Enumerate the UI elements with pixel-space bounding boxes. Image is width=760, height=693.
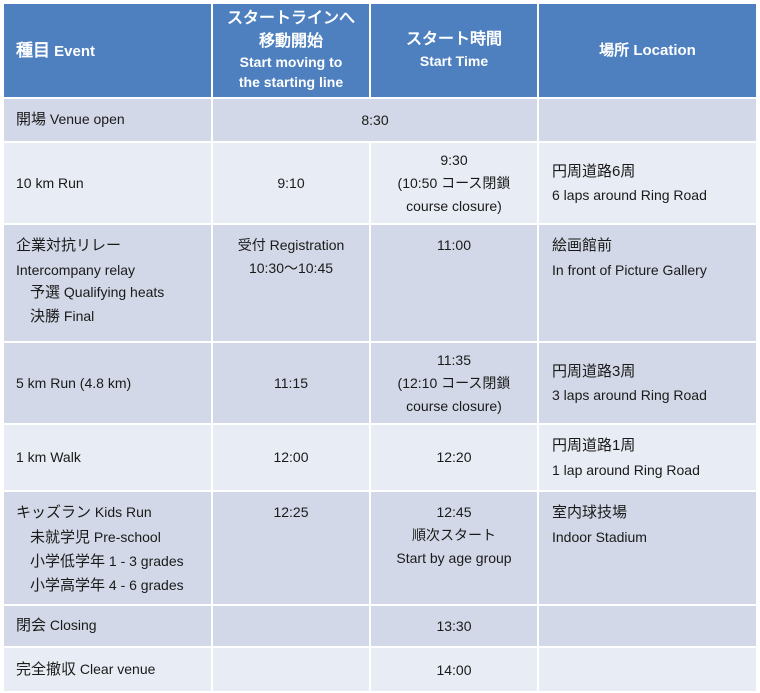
table-row: キッズラン Kids Run未就学児 Pre-school小学低学年 1 - 3… xyxy=(4,491,756,605)
start-time-line: 12:45 xyxy=(379,501,529,524)
table-row: 1 km Walk12:0012:20円周道路1周1 lap around Ri… xyxy=(4,424,756,491)
event-line: 企業対抗リレー xyxy=(16,234,203,258)
column-header-start-time-jp: スタート時間 xyxy=(377,29,531,52)
event-line-jp: 企業対抗リレー xyxy=(16,237,121,254)
column-header-location: 場所 Location xyxy=(538,4,756,98)
cell-location-1km-walk: 円周道路1周1 lap around Ring Road xyxy=(538,424,756,491)
cell-start-time-10km-run: 9:30(10:50 コース閉鎖course closure) xyxy=(370,142,538,224)
location-jp: 円周道路1周 xyxy=(552,434,748,458)
column-header-start-moving-jp1: スタートラインへ xyxy=(219,8,363,31)
event-line-en: Qualifying heats xyxy=(64,284,164,300)
cell-start-moving-kids-run: 12:25 xyxy=(212,491,370,605)
cell-location-intercompany-relay: 絵画館前In front of Picture Gallery xyxy=(538,224,756,342)
table-row: 閉会 Closing13:30 xyxy=(4,605,756,647)
event-line-en: 1 km Walk xyxy=(16,449,81,465)
column-header-location-jp: 場所 xyxy=(599,42,629,59)
column-header-start-moving-en1: Start moving to xyxy=(219,53,363,73)
cell-start-moving-5km-run: 11:15 xyxy=(212,342,370,424)
event-line-en: Kids Run xyxy=(95,504,152,520)
event-line-en: 10 km Run xyxy=(16,175,84,191)
start-time-line: 順次スタート xyxy=(379,524,529,547)
start-time-line: 9:30 xyxy=(379,149,529,172)
cell-start-time-intercompany-relay: 11:00 xyxy=(370,224,538,342)
location-en: 1 lap around Ring Road xyxy=(552,459,748,482)
event-line: 決勝 Final xyxy=(16,305,203,329)
event-schedule-table: 種目 Event スタートラインへ 移動開始 Start moving to t… xyxy=(4,4,756,693)
cell-event-kids-run: キッズラン Kids Run未就学児 Pre-school小学低学年 1 - 3… xyxy=(4,491,212,605)
location-jp: 絵画館前 xyxy=(552,234,748,258)
event-line-en: Pre-school xyxy=(94,529,161,545)
event-line-jp: キッズラン xyxy=(16,504,91,521)
cell-start-time-closing: 13:30 xyxy=(370,605,538,647)
cell-location-venue-open xyxy=(538,98,756,142)
header-row: 種目 Event スタートラインへ 移動開始 Start moving to t… xyxy=(4,4,756,98)
start-moving-line: 受付 Registration xyxy=(221,234,361,257)
event-line-jp: 予選 xyxy=(30,284,60,301)
cell-location-closing xyxy=(538,605,756,647)
location-jp: 室内球技場 xyxy=(552,501,748,525)
start-moving-line: 10:30〜10:45 xyxy=(221,257,361,280)
event-line: 小学低学年 1 - 3 grades xyxy=(16,550,203,574)
location-jp: 円周道路6周 xyxy=(552,160,748,184)
event-line: 1 km Walk xyxy=(16,446,203,469)
start-time-line: 12:20 xyxy=(379,446,529,469)
cell-start-moving-closing xyxy=(212,605,370,647)
event-line: 未就学児 Pre-school xyxy=(16,526,203,550)
column-header-start-moving-en2: the starting line xyxy=(219,73,363,93)
event-line-jp: 完全撤収 xyxy=(16,661,76,678)
table-row: 開場 Venue open8:30 xyxy=(4,98,756,142)
event-line-en: Closing xyxy=(50,617,97,633)
event-line-jp: 閉会 xyxy=(16,617,46,634)
event-line-en: 5 km Run (4.8 km) xyxy=(16,375,131,391)
location-jp: 円周道路3周 xyxy=(552,360,748,384)
event-line-en: 4 - 6 grades xyxy=(109,577,184,593)
start-time-line: course closure) xyxy=(379,195,529,218)
start-time-line: 13:30 xyxy=(379,615,529,638)
cell-event-venue-open: 開場 Venue open xyxy=(4,98,212,142)
table-row: 5 km Run (4.8 km)11:1511:35(12:10 コース閉鎖c… xyxy=(4,342,756,424)
event-line: 5 km Run (4.8 km) xyxy=(16,372,203,395)
event-line-jp: 小学低学年 xyxy=(30,553,105,570)
cell-event-closing: 閉会 Closing xyxy=(4,605,212,647)
event-line-en: Clear venue xyxy=(80,661,156,677)
cell-location-10km-run: 円周道路6周6 laps around Ring Road xyxy=(538,142,756,224)
cell-event-5km-run: 5 km Run (4.8 km) xyxy=(4,342,212,424)
event-line-jp: 未就学児 xyxy=(30,529,90,546)
location-en: Indoor Stadium xyxy=(552,526,748,549)
start-time-line: Start by age group xyxy=(379,547,529,570)
cell-start-time-kids-run: 12:45順次スタートStart by age group xyxy=(370,491,538,605)
location-en: 3 laps around Ring Road xyxy=(552,384,748,407)
cell-location-kids-run: 室内球技場Indoor Stadium xyxy=(538,491,756,605)
start-time-line: 11:00 xyxy=(379,234,529,257)
cell-start-time-1km-walk: 12:20 xyxy=(370,424,538,491)
column-header-start-moving: スタートラインへ 移動開始 Start moving to the starti… xyxy=(212,4,370,98)
start-time-line: 11:35 xyxy=(379,349,529,372)
cell-start-moving-1km-walk: 12:00 xyxy=(212,424,370,491)
event-line: キッズラン Kids Run xyxy=(16,501,203,525)
column-header-location-en: Location xyxy=(633,42,696,59)
column-header-event-jp: 種目 xyxy=(16,41,50,60)
start-time-line: (12:10 コース閉鎖 xyxy=(379,372,529,395)
cell-event-1km-walk: 1 km Walk xyxy=(4,424,212,491)
table-header: 種目 Event スタートラインへ 移動開始 Start moving to t… xyxy=(4,4,756,98)
event-line: 小学高学年 4 - 6 grades xyxy=(16,574,203,598)
start-time-line: (10:50 コース閉鎖 xyxy=(379,172,529,195)
column-header-start-moving-jp2: 移動開始 xyxy=(219,31,363,54)
location-en: 6 laps around Ring Road xyxy=(552,184,748,207)
start-time-line: course closure) xyxy=(379,395,529,418)
event-line-jp: 決勝 xyxy=(30,308,60,325)
event-line-jp: 開場 xyxy=(16,111,46,128)
event-line: 閉会 Closing xyxy=(16,614,203,638)
column-header-start-time: スタート時間 Start Time xyxy=(370,4,538,98)
event-line-en: Venue open xyxy=(50,111,125,127)
cell-start-moving-intercompany-relay: 受付 Registration10:30〜10:45 xyxy=(212,224,370,342)
cell-event-10km-run: 10 km Run xyxy=(4,142,212,224)
event-line-jp: 小学高学年 xyxy=(30,577,105,594)
cell-start-moving-10km-run: 9:10 xyxy=(212,142,370,224)
event-line-en: 1 - 3 grades xyxy=(109,553,184,569)
location-en: In front of Picture Gallery xyxy=(552,259,748,282)
table-row: 10 km Run9:109:30(10:50 コース閉鎖course clos… xyxy=(4,142,756,224)
event-line: 予選 Qualifying heats xyxy=(16,281,203,305)
event-line: 開場 Venue open xyxy=(16,108,203,132)
event-line: Intercompany relay xyxy=(16,259,203,282)
cell-event-intercompany-relay: 企業対抗リレーIntercompany relay予選 Qualifying h… xyxy=(4,224,212,342)
table-row: 企業対抗リレーIntercompany relay予選 Qualifying h… xyxy=(4,224,756,342)
column-header-start-time-en: Start Time xyxy=(377,52,531,72)
event-line: 10 km Run xyxy=(16,172,203,195)
cell-location-5km-run: 円周道路3周3 laps around Ring Road xyxy=(538,342,756,424)
event-line-en: Final xyxy=(64,308,94,324)
event-line-en: Intercompany relay xyxy=(16,262,135,278)
cell-start-time-5km-run: 11:35(12:10 コース閉鎖course closure) xyxy=(370,342,538,424)
table-body: 開場 Venue open8:3010 km Run9:109:30(10:50… xyxy=(4,98,756,692)
cell-merged-time-venue-open: 8:30 xyxy=(212,98,538,142)
column-header-event: 種目 Event xyxy=(4,4,212,98)
column-header-event-en: Event xyxy=(54,43,95,60)
